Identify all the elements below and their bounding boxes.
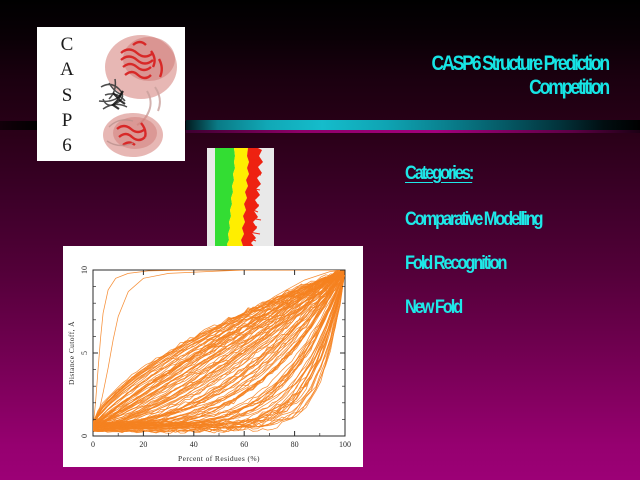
- x-tick-60: 60: [240, 440, 248, 449]
- category-item-fold-recognition: Fold Recognition: [405, 253, 590, 275]
- x-axis-title: Percent of Residues (%): [178, 454, 260, 463]
- logo-letter-6: 6: [62, 136, 72, 155]
- x-tick-20: 20: [139, 440, 147, 449]
- divider-magenta-underline: [186, 130, 640, 133]
- logo-letter-s: S: [62, 86, 73, 105]
- distance-cutoff-chart: 0 20 40 60 80 100 0 5 10 Percent of Resi…: [63, 246, 363, 467]
- category-item-comparative-modelling: Comparative Modelling: [405, 209, 590, 231]
- title-line-2: Competition: [383, 76, 608, 100]
- categories-block: Categories: Comparative Modelling Fold R…: [405, 163, 590, 319]
- divider-teal-segment: [186, 120, 640, 130]
- title-line-1: CASP6 Structure Prediction: [431, 52, 608, 75]
- casp6-logo-letters: C A S P 6: [49, 35, 85, 155]
- x-tick-0: 0: [91, 440, 95, 449]
- y-tick-0: 0: [80, 434, 89, 438]
- protein-structure-icon: [89, 29, 183, 161]
- thumbnail-band-chart: TO: [207, 148, 274, 260]
- logo-letter-c: C: [61, 35, 74, 54]
- x-tick-80: 80: [291, 440, 299, 449]
- y-tick-5: 5: [80, 351, 89, 355]
- y-tick-10: 10: [80, 266, 89, 274]
- category-item-new-fold: New Fold: [405, 297, 590, 319]
- y-axis-title: Distance Cutoff, Å: [67, 321, 76, 385]
- casp6-logo: C A S P 6: [37, 27, 185, 161]
- x-tick-100: 100: [339, 440, 351, 449]
- main-chart-panel: 0 20 40 60 80 100 0 5 10 Percent of Resi…: [63, 246, 363, 467]
- slide-title: CASP6 Structure Prediction Competition: [383, 52, 608, 99]
- x-tick-40: 40: [190, 440, 198, 449]
- logo-letter-a: A: [60, 60, 74, 79]
- categories-heading: Categories:: [405, 163, 590, 185]
- logo-letter-p: P: [62, 111, 73, 130]
- thumbnail-band-chart-svg: [207, 148, 274, 260]
- slide-canvas: C A S P 6: [0, 0, 640, 480]
